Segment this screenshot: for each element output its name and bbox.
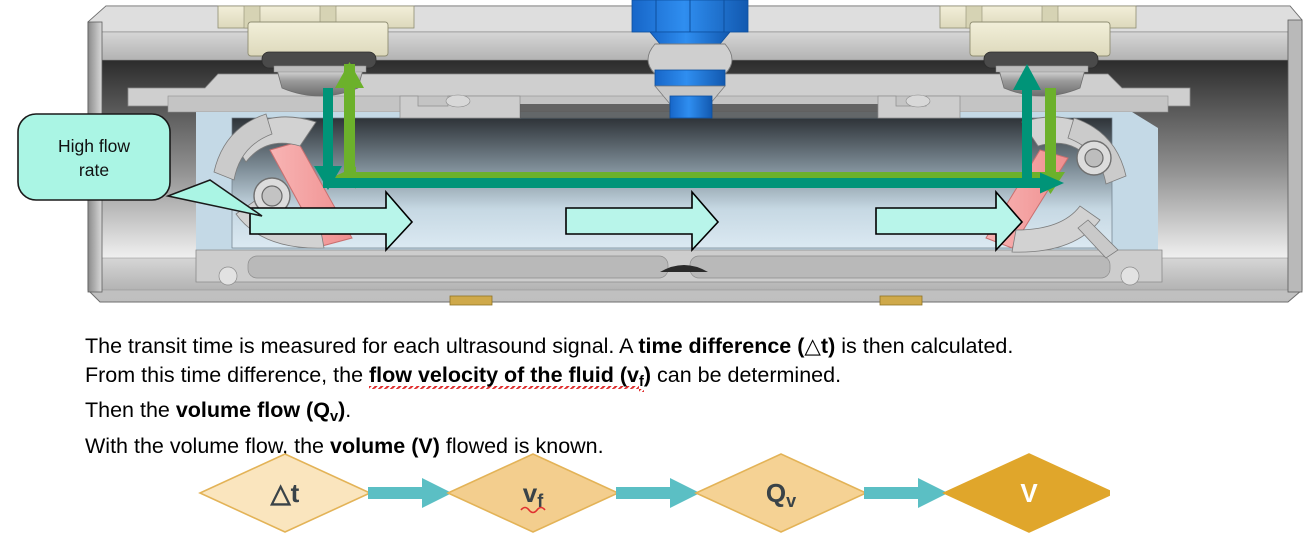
copy-l2-bold-b: ) bbox=[644, 363, 651, 387]
copy-line-2: From this time difference, the flow velo… bbox=[85, 361, 1235, 397]
chain-node-v-volume[interactable]: V bbox=[944, 454, 1110, 532]
chain-node-v-f[interactable]: vf bbox=[448, 454, 618, 532]
copy-l3-bold-a: volume flow (Q bbox=[176, 398, 330, 422]
copy-l2-b: can be determined. bbox=[651, 363, 841, 387]
chain-arrow-2 bbox=[616, 478, 700, 508]
callout-line-2: rate bbox=[79, 160, 109, 180]
explanatory-text: The transit time is measured for each ul… bbox=[85, 332, 1235, 460]
copy-line-1: The transit time is measured for each ul… bbox=[85, 332, 1235, 361]
chain-arrow-1 bbox=[368, 478, 452, 508]
copy-l2-bold-a: flow velocity of the fluid (v bbox=[369, 363, 639, 389]
copy-l1-a: The transit time is measured for each ul… bbox=[85, 334, 638, 358]
chain-node-label-3: V bbox=[1020, 478, 1038, 508]
slide-root: High flow rate The transit time is measu… bbox=[0, 0, 1310, 535]
chain-node-delta-t[interactable]: △t bbox=[200, 454, 370, 532]
copy-l2-bold: flow velocity of the fluid (vf) bbox=[369, 363, 651, 387]
copy-l1-bold: time difference (△t) bbox=[638, 334, 835, 358]
chain-node-label-0: △t bbox=[270, 478, 300, 508]
chain-node-sub-2: v bbox=[786, 491, 796, 511]
copy-line-3: Then the volume flow (Qv). bbox=[85, 396, 1235, 432]
process-flow-chain: △t vf Qv V bbox=[190, 452, 1110, 534]
copy-l3-bold: volume flow (Qv) bbox=[176, 398, 345, 422]
copy-l2-a: From this time difference, the bbox=[85, 363, 369, 387]
copy-l3-b: . bbox=[345, 398, 351, 422]
chain-node-q-v[interactable]: Qv bbox=[696, 454, 866, 532]
copy-l3-a: Then the bbox=[85, 398, 176, 422]
flow-meter-illustration: High flow rate bbox=[0, 0, 1310, 312]
copy-l3-bold-sub: v bbox=[330, 409, 338, 425]
callout-line-1: High flow bbox=[58, 136, 130, 156]
copy-l1-b: is then calculated. bbox=[835, 334, 1013, 358]
chain-arrow-3 bbox=[864, 478, 948, 508]
